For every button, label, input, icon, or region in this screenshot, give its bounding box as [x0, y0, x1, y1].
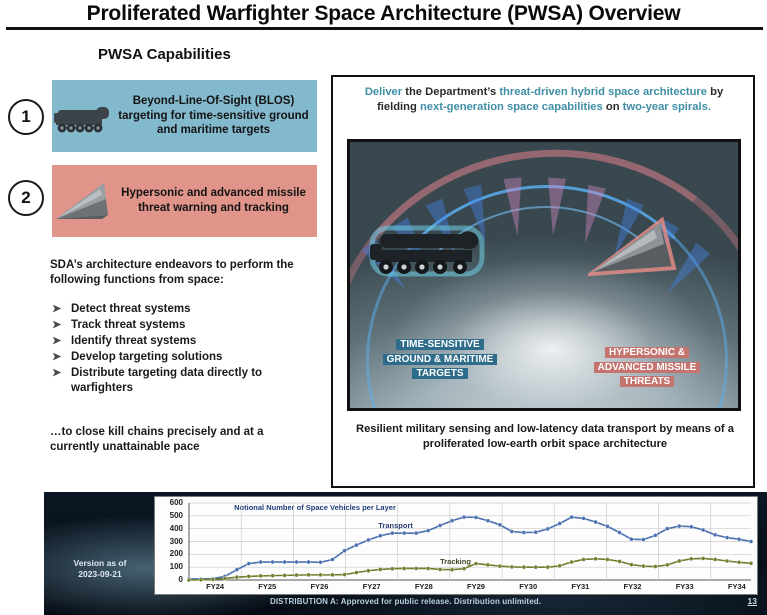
capability-card-blos: Beyond-Line-Of-Sight (BLOS) targeting fo…: [52, 80, 317, 152]
chart-data-point: [450, 519, 454, 523]
chart-data-point: [665, 563, 669, 567]
version-date: 2023-09-21: [50, 569, 150, 580]
chart-y-tick-label: 500: [155, 512, 183, 520]
chart-x-tick-label: FY34: [722, 582, 752, 591]
chart-data-point: [546, 527, 550, 531]
mission-highlight-phrase: next-generation space capabilities: [420, 101, 603, 113]
chart-data-point: [342, 549, 346, 553]
title-underline-rule: [6, 27, 763, 30]
chart-x-tick-label: FY26: [304, 582, 334, 591]
chart-data-point: [570, 515, 574, 519]
chart-data-point: [330, 557, 334, 561]
chart-data-point: [498, 523, 502, 527]
photo-label-blos-line: TIME-SENSITIVE: [396, 339, 483, 350]
functions-outro-text: …to close kill chains precisely and at a…: [50, 425, 300, 455]
chart-data-point: [211, 577, 215, 581]
chart-data-point: [378, 534, 382, 538]
hypersonic-glide-vehicle-photo-icon: [588, 214, 680, 280]
chart-data-point: [426, 529, 430, 533]
chart-data-point: [474, 515, 478, 519]
chart-data-point: [606, 557, 610, 561]
chart-data-point: [295, 560, 299, 564]
chart-data-point: [653, 565, 657, 569]
chart-data-point: [307, 560, 311, 564]
arrow-bullet-icon: ➤: [52, 318, 61, 332]
chart-y-tick-label: 0: [155, 576, 183, 584]
chart-data-point: [641, 564, 645, 568]
chart-data-point: [570, 560, 574, 564]
chart-data-point: [749, 561, 753, 565]
chart-y-tick-label: 100: [155, 563, 183, 571]
chart-series-label-tracking: Tracking: [440, 557, 471, 566]
photo-label-hypersonic-line: THREATS: [620, 376, 674, 387]
chart-data-point: [307, 573, 311, 577]
chart-data-point: [594, 520, 598, 524]
chart-data-point: [534, 565, 538, 569]
chart-data-point: [558, 564, 562, 568]
chart-data-point: [606, 524, 610, 528]
list-item-label: Track threat systems: [71, 319, 185, 331]
chart-x-tick-label: FY33: [670, 582, 700, 591]
chart-data-point: [713, 533, 717, 537]
chart-x-tick-label: FY24: [200, 582, 230, 591]
chart-data-point: [319, 573, 323, 577]
chart-data-point: [259, 560, 263, 564]
pwsa-mission-panel: Deliver the Department’s threat-driven h…: [331, 75, 755, 488]
constellation-photo: TIME-SENSITIVEGROUND & MARITIMETARGETS H…: [347, 139, 741, 411]
photo-label-hypersonic-line: ADVANCED MISSILE: [594, 362, 701, 373]
chart-data-point: [582, 557, 586, 561]
list-item: ➤Identify threat systems: [52, 334, 307, 349]
chart-data-point: [641, 538, 645, 542]
photo-label-blos: TIME-SENSITIVEGROUND & MARITIMETARGETS: [360, 338, 520, 382]
chart-data-point: [187, 578, 191, 582]
chart-data-point: [713, 557, 717, 561]
chart-data-point: [617, 559, 621, 563]
capability-number-badge-2: 2: [8, 180, 44, 216]
chart-data-point: [474, 562, 478, 566]
mission-plain-phrase: the Department’s: [402, 86, 499, 98]
chart-data-point: [462, 515, 466, 519]
mission-highlight-phrase: two-year spirals.: [623, 101, 711, 113]
list-item-label: Distribute targeting data directly to wa…: [71, 367, 262, 394]
chart-data-point: [689, 525, 693, 529]
chart-series-label-transport: Transport: [378, 521, 413, 530]
chart-data-point: [354, 543, 358, 547]
chart-data-point: [498, 564, 502, 568]
chart-data-point: [426, 566, 430, 570]
chart-x-tick-label: FY27: [357, 582, 387, 591]
chart-data-point: [486, 563, 490, 567]
chart-y-tick-label: 600: [155, 499, 183, 507]
chart-data-point: [414, 566, 418, 570]
capabilities-heading: PWSA Capabilities: [98, 46, 231, 63]
mission-statement: Deliver the Department’s threat-driven h…: [345, 85, 743, 115]
chart-data-point: [330, 573, 334, 577]
chart-data-point: [438, 567, 442, 571]
chart-data-point: [283, 573, 287, 577]
chart-data-point: [737, 537, 741, 541]
chart-y-tick-label: 300: [155, 538, 183, 546]
chart-data-point: [546, 565, 550, 569]
space-vehicles-chart: Notional Number of Space Vehicles per La…: [154, 496, 758, 595]
chart-y-tick-label: 200: [155, 550, 183, 558]
slide-footer-band: Version as of 2023-09-21 Notional Number…: [44, 492, 767, 615]
mission-highlight-phrase: Deliver: [365, 86, 402, 98]
chart-data-point: [283, 560, 287, 564]
chart-data-point: [558, 522, 562, 526]
list-item-label: Detect threat systems: [71, 303, 191, 315]
chart-data-point: [402, 531, 406, 535]
chart-data-point: [510, 565, 514, 569]
arrow-bullet-icon: ➤: [52, 334, 61, 348]
chart-data-point: [462, 567, 466, 571]
functions-bullet-list: ➤Detect threat systems ➤Track threat sys…: [52, 302, 307, 397]
page-number: 13: [748, 596, 757, 606]
chart-data-point: [701, 556, 705, 560]
capability-card-hypersonic: Hypersonic and advanced missile threat w…: [52, 165, 317, 237]
chart-data-point: [354, 571, 358, 575]
version-stamp: Version as of 2023-09-21: [50, 558, 150, 580]
chart-data-point: [450, 568, 454, 572]
chart-data-point: [414, 531, 418, 535]
chart-data-point: [737, 560, 741, 564]
hypersonic-glide-vehicle-icon: [52, 175, 114, 227]
capability-number-badge-1: 1: [8, 99, 44, 135]
chart-data-point: [534, 530, 538, 534]
list-item: ➤Detect threat systems: [52, 302, 307, 317]
chart-data-point: [366, 538, 370, 542]
chart-data-point: [390, 567, 394, 571]
missile-launcher-truck-icon: [52, 90, 114, 142]
distribution-statement: DISTRIBUTION A: Approved for public rele…: [44, 597, 767, 606]
list-item-label: Develop targeting solutions: [71, 351, 222, 363]
arrow-bullet-icon: ➤: [52, 350, 61, 364]
chart-data-point: [402, 566, 406, 570]
chart-data-point: [259, 574, 263, 578]
chart-data-point: [701, 528, 705, 532]
mission-plain-phrase: on: [603, 101, 623, 113]
list-item: ➤Track threat systems: [52, 318, 307, 333]
functions-intro-text: SDA’s architecture endeavors to perform …: [50, 258, 300, 288]
chart-x-tick-label: FY30: [513, 582, 543, 591]
chart-data-point: [522, 565, 526, 569]
arrow-bullet-icon: ➤: [52, 302, 61, 316]
chart-data-point: [247, 574, 251, 578]
chart-data-point: [653, 533, 657, 537]
list-item: ➤Develop targeting solutions: [52, 350, 307, 365]
list-item: ➤Distribute targeting data directly to w…: [52, 366, 307, 396]
chart-y-tick-label: 400: [155, 525, 183, 533]
chart-data-point: [271, 560, 275, 564]
chart-data-point: [594, 557, 598, 561]
chart-x-tick-label: FY29: [461, 582, 491, 591]
chart-data-point: [522, 531, 526, 535]
chart-plot-area: [155, 497, 759, 596]
chart-data-point: [319, 560, 323, 564]
chart-data-point: [725, 559, 729, 563]
missile-launcher-truck-photo-icon: [368, 220, 486, 282]
chart-data-point: [247, 562, 251, 566]
photo-label-blos-line: TARGETS: [412, 368, 467, 379]
chart-data-point: [366, 569, 370, 573]
chart-data-point: [486, 519, 490, 523]
chart-data-point: [677, 524, 681, 528]
arrow-bullet-icon: ➤: [52, 366, 61, 380]
list-item-label: Identify threat systems: [71, 335, 196, 347]
photo-label-hypersonic: HYPERSONIC &ADVANCED MISSILETHREATS: [572, 346, 722, 390]
chart-x-tick-label: FY31: [565, 582, 595, 591]
chart-data-point: [677, 559, 681, 563]
capability-text-blos: Beyond-Line-Of-Sight (BLOS) targeting fo…: [114, 94, 317, 138]
chart-data-point: [378, 567, 382, 571]
chart-data-point: [390, 531, 394, 535]
mission-highlight-phrase: threat-driven hybrid space architecture: [499, 86, 707, 98]
chart-x-tick-label: FY32: [618, 582, 648, 591]
photo-label-hypersonic-line: HYPERSONIC &: [605, 347, 689, 358]
chart-data-point: [629, 537, 633, 541]
chart-data-point: [438, 523, 442, 527]
chart-data-point: [689, 557, 693, 561]
chart-x-tick-label: FY28: [409, 582, 439, 591]
chart-data-point: [629, 563, 633, 567]
chart-x-tick-label: FY25: [252, 582, 282, 591]
chart-data-point: [510, 529, 514, 533]
capability-text-hypersonic: Hypersonic and advanced missile threat w…: [114, 186, 317, 215]
chart-data-point: [235, 575, 239, 579]
page-title: Proliferated Warfighter Space Architectu…: [0, 2, 767, 26]
chart-data-point: [235, 568, 239, 572]
chart-data-point: [725, 536, 729, 540]
chart-data-point: [617, 531, 621, 535]
chart-data-point: [749, 540, 753, 544]
chart-series-line-transport: [189, 517, 751, 579]
chart-data-point: [665, 527, 669, 531]
chart-data-point: [223, 576, 227, 580]
photo-caption: Resilient military sensing and low-laten…: [349, 422, 741, 452]
photo-label-blos-line: GROUND & MARITIME: [383, 354, 498, 365]
chart-data-point: [271, 574, 275, 578]
version-label: Version as of: [50, 558, 150, 569]
chart-data-point: [582, 516, 586, 520]
chart-data-point: [342, 573, 346, 577]
chart-data-point: [295, 573, 299, 577]
